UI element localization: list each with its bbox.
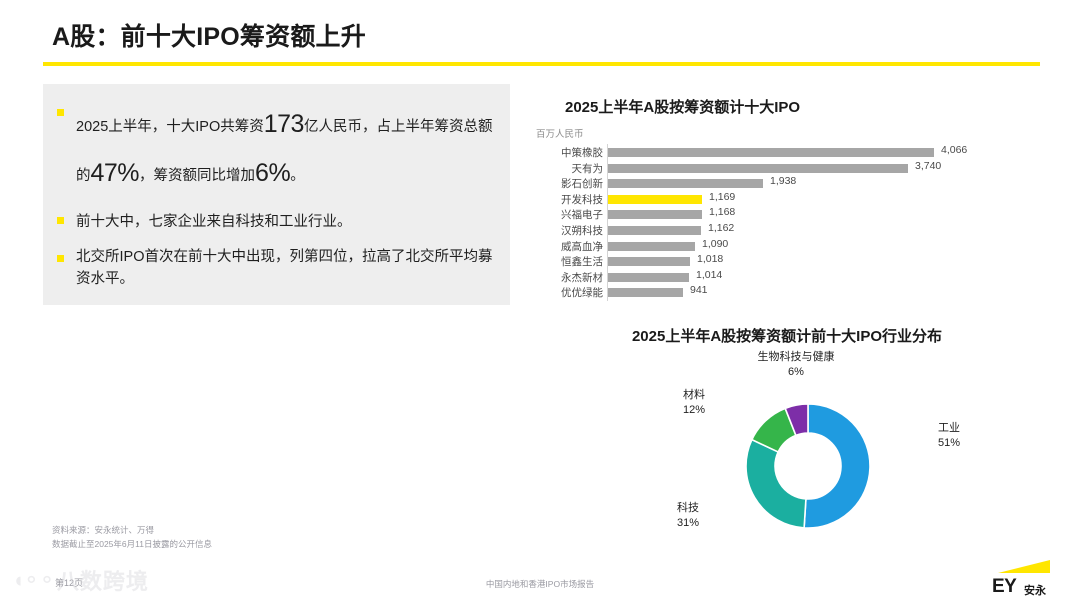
bar-row: 汉朔科技1,162 bbox=[530, 226, 1040, 235]
source-line-1: 资料来源：安永统计、万得 bbox=[52, 523, 212, 537]
bullet-text: 北交所IPO首次在前十大中出现，列第四位，拉高了北交所平均募资水平。 bbox=[76, 246, 496, 291]
bar-category-label: 天有为 bbox=[572, 161, 604, 176]
bar-chart-title: 2025上半年A股按筹资额计十大IPO bbox=[565, 96, 800, 117]
bar-fill bbox=[608, 257, 690, 266]
bar-chart-unit-label: 百万人民币 bbox=[536, 126, 584, 140]
footer-report-title: 中国内地和香港IPO市场报告 bbox=[0, 578, 1080, 590]
bullet-segment: 2025上半年，十大IPO共筹资 bbox=[76, 119, 264, 135]
bullet-emphasis: 47% bbox=[91, 159, 140, 187]
source-line-2: 数据截止至2025年6月11日披露的公开信息 bbox=[52, 537, 212, 551]
bar-row: 中策橡胶4,066 bbox=[530, 148, 1040, 157]
donut-label-materials: 材料 12% bbox=[666, 388, 722, 418]
bullet-segment: 。 bbox=[290, 168, 305, 184]
bar-value-label: 1,168 bbox=[709, 206, 735, 218]
page-title: A股：前十大IPO筹资额上升 bbox=[52, 17, 366, 53]
bullet-square-icon bbox=[57, 109, 64, 116]
bar-row: 天有为3,740 bbox=[530, 164, 1040, 173]
bar-row: 永杰新材1,014 bbox=[530, 273, 1040, 282]
bar-row: 恒鑫生活1,018 bbox=[530, 257, 1040, 266]
bullet-segment: ，筹资额同比增加 bbox=[139, 168, 255, 184]
bar-value-label: 3,740 bbox=[915, 160, 941, 172]
ey-logo-cn: 安永 bbox=[1024, 582, 1046, 598]
bar-category-label: 恒鑫生活 bbox=[561, 254, 603, 269]
bar-fill bbox=[608, 195, 702, 204]
donut-label-industry: 工业 51% bbox=[938, 421, 960, 451]
bar-category-label: 永杰新材 bbox=[561, 270, 603, 285]
donut-label-name: 科技 bbox=[677, 502, 699, 514]
bar-fill bbox=[608, 210, 702, 219]
footer-bar: 第12页 中国内地和香港IPO市场报告 bbox=[0, 564, 1080, 608]
bar-category-label: 影石创新 bbox=[561, 176, 603, 191]
donut-slice bbox=[804, 404, 870, 528]
bar-category-label: 兴福电子 bbox=[561, 207, 603, 222]
bullet-text: 2025上半年，十大IPO共筹资173亿人民币，占上半年筹资总额的47%，筹资额… bbox=[76, 100, 496, 198]
donut-label-value: 12% bbox=[666, 403, 722, 418]
bar-row: 优优绿能941 bbox=[530, 288, 1040, 297]
ey-logo-word: EY bbox=[992, 576, 1016, 598]
bar-plot-area: 中策橡胶4,066天有为3,740影石创新1,938开发科技1,169兴福电子1… bbox=[530, 144, 1040, 304]
bar-row: 影石创新1,938 bbox=[530, 179, 1040, 188]
donut-label-biotech: 生物科技与健康 6% bbox=[716, 350, 876, 380]
bar-fill bbox=[608, 288, 683, 297]
bar-value-label: 1,169 bbox=[709, 191, 735, 203]
title-divider bbox=[43, 62, 1040, 66]
list-item: 前十大中，七家企业来自科技和工业行业。 bbox=[57, 208, 496, 236]
bar-fill bbox=[608, 164, 908, 173]
bar-value-label: 1,090 bbox=[702, 238, 728, 250]
donut-label-name: 工业 bbox=[938, 422, 960, 434]
bar-fill bbox=[608, 179, 763, 188]
ey-beam-icon bbox=[998, 560, 1050, 573]
ey-logo: EY 安永 bbox=[972, 560, 1058, 600]
bar-row: 兴福电子1,168 bbox=[530, 210, 1040, 219]
bar-value-label: 1,014 bbox=[696, 269, 722, 281]
donut-label-value: 51% bbox=[938, 436, 960, 451]
donut-label-name: 材料 bbox=[683, 389, 705, 401]
bar-category-label: 优优绿能 bbox=[561, 285, 603, 300]
bar-row: 威高血净1,090 bbox=[530, 242, 1040, 251]
bullet-text: 前十大中，七家企业来自科技和工业行业。 bbox=[76, 208, 352, 236]
list-item: 2025上半年，十大IPO共筹资173亿人民币，占上半年筹资总额的47%，筹资额… bbox=[57, 100, 496, 198]
industry-donut-chart: 2025上半年A股按筹资额计前十大IPO行业分布 工业 51% 科技 31% 材… bbox=[530, 325, 1040, 550]
donut-chart-title: 2025上半年A股按筹资额计前十大IPO行业分布 bbox=[557, 325, 1017, 346]
donut-slice bbox=[746, 440, 806, 528]
bar-value-label: 4,066 bbox=[941, 144, 967, 156]
bullet-square-icon bbox=[57, 255, 64, 262]
bullet-emphasis: 173 bbox=[264, 110, 304, 138]
bar-category-label: 汉朔科技 bbox=[561, 223, 603, 238]
top-ipo-bar-chart: 2025上半年A股按筹资额计十大IPO 百万人民币 中策橡胶4,066天有为3,… bbox=[530, 96, 1040, 311]
bar-fill bbox=[608, 242, 695, 251]
bar-value-label: 941 bbox=[690, 284, 708, 296]
bar-value-label: 1,018 bbox=[697, 253, 723, 265]
donut-label-technology: 科技 31% bbox=[660, 501, 716, 531]
donut-svg bbox=[738, 396, 878, 536]
donut-label-value: 6% bbox=[716, 365, 876, 380]
bar-category-label: 开发科技 bbox=[561, 192, 603, 207]
bar-fill bbox=[608, 148, 934, 157]
bar-category-label: 威高血净 bbox=[561, 239, 603, 254]
bullet-square-icon bbox=[57, 217, 64, 224]
bar-fill bbox=[608, 273, 689, 282]
bullet-emphasis: 6% bbox=[255, 159, 290, 187]
highlights-panel: 2025上半年，十大IPO共筹资173亿人民币，占上半年筹资总额的47%，筹资额… bbox=[43, 84, 510, 305]
bar-category-label: 中策橡胶 bbox=[561, 145, 603, 160]
bar-value-label: 1,162 bbox=[708, 222, 734, 234]
source-note: 资料来源：安永统计、万得 数据截止至2025年6月11日披露的公开信息 bbox=[52, 523, 212, 552]
bar-value-label: 1,938 bbox=[770, 175, 796, 187]
bar-row: 开发科技1,169 bbox=[530, 195, 1040, 204]
donut-label-name: 生物科技与健康 bbox=[758, 351, 835, 363]
bullet-list: 2025上半年，十大IPO共筹资173亿人民币，占上半年筹资总额的47%，筹资额… bbox=[57, 100, 496, 301]
donut-label-value: 31% bbox=[660, 516, 716, 531]
list-item: 北交所IPO首次在前十大中出现，列第四位，拉高了北交所平均募资水平。 bbox=[57, 246, 496, 291]
bar-fill bbox=[608, 226, 701, 235]
